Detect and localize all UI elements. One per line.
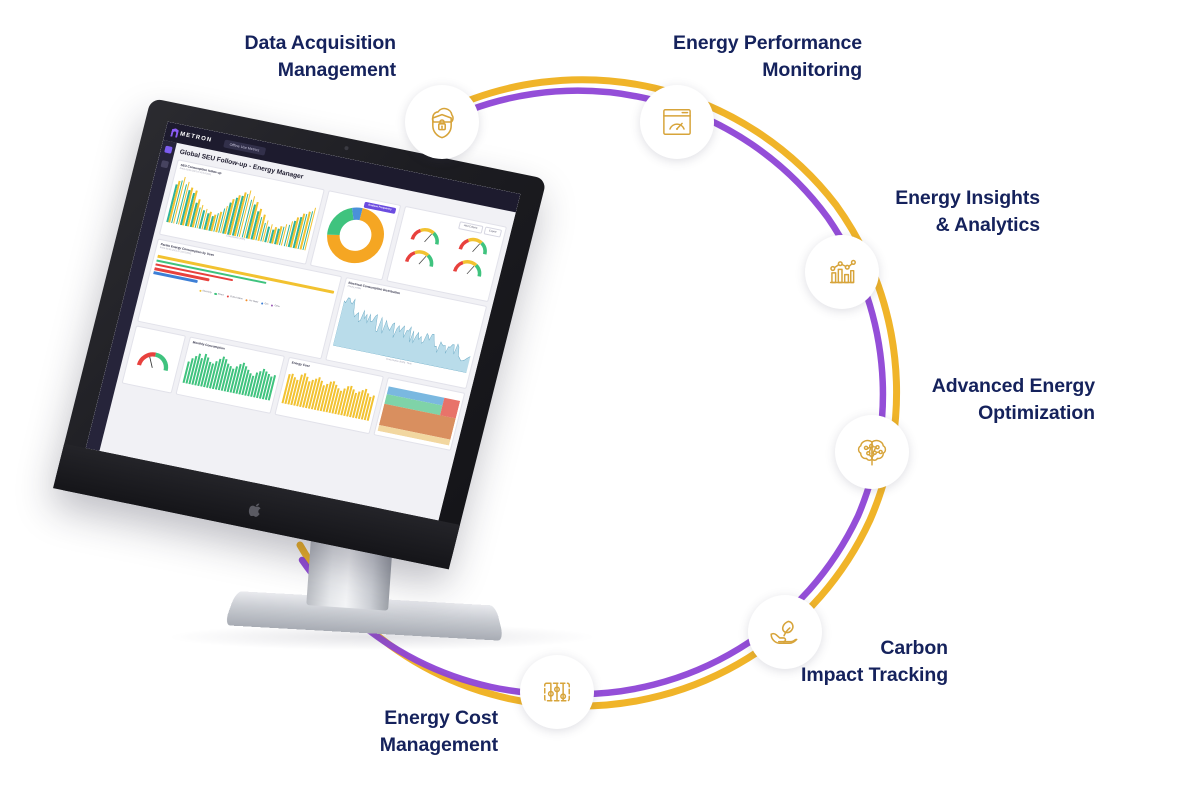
node-label: Energy Cost Management	[300, 705, 498, 759]
legend-item: Hot Water	[245, 299, 258, 304]
imac-body: METRON Offline Use Metrics Global SEU Fo…	[53, 98, 547, 569]
node-label: Advanced Energy Optimization	[855, 373, 1095, 427]
report-icon[interactable]	[160, 160, 169, 168]
infographic-canvas: METRON Offline Use Metrics Global SEU Fo…	[0, 0, 1200, 800]
browser-gauge-icon	[640, 85, 714, 159]
apple-logo	[247, 501, 263, 518]
card-kpi-gauges[interactable]: Add Criteria Export	[386, 206, 507, 302]
node-label: Carbon Impact Tracking	[700, 635, 948, 689]
node-label: Energy Insights & Analytics	[810, 185, 1040, 239]
metron-logo-mark	[170, 128, 179, 138]
cloud-shield-lock-icon	[405, 85, 479, 159]
metron-logo-text: METRON	[179, 131, 212, 143]
card-stacked-area[interactable]	[373, 377, 465, 451]
legend-item: Gas	[261, 302, 269, 306]
imac-desktop: METRON Offline Use Metrics Global SEU Fo…	[112, 100, 632, 660]
sliders-icon	[520, 655, 594, 729]
webcam-icon	[344, 146, 349, 151]
card-energy-breakdown-donut[interactable]: Analyse Frequency	[310, 190, 401, 280]
gauge-chart	[134, 344, 173, 374]
grid-icon[interactable]	[164, 146, 173, 154]
card-efficiency-gauge[interactable]	[122, 325, 187, 393]
node-label: Energy Performance Monitoring	[590, 30, 862, 84]
legend-item: Steam	[214, 292, 224, 296]
bar-chart-trend-icon	[805, 235, 879, 309]
donut-chart	[320, 201, 391, 269]
legend-item: Other	[271, 304, 280, 308]
legend-item: Electricity	[199, 289, 212, 294]
node-label: Data Acquisition Management	[150, 30, 396, 84]
stacked-area-chart	[378, 381, 462, 446]
legend-item: Chilled Water	[227, 295, 243, 300]
